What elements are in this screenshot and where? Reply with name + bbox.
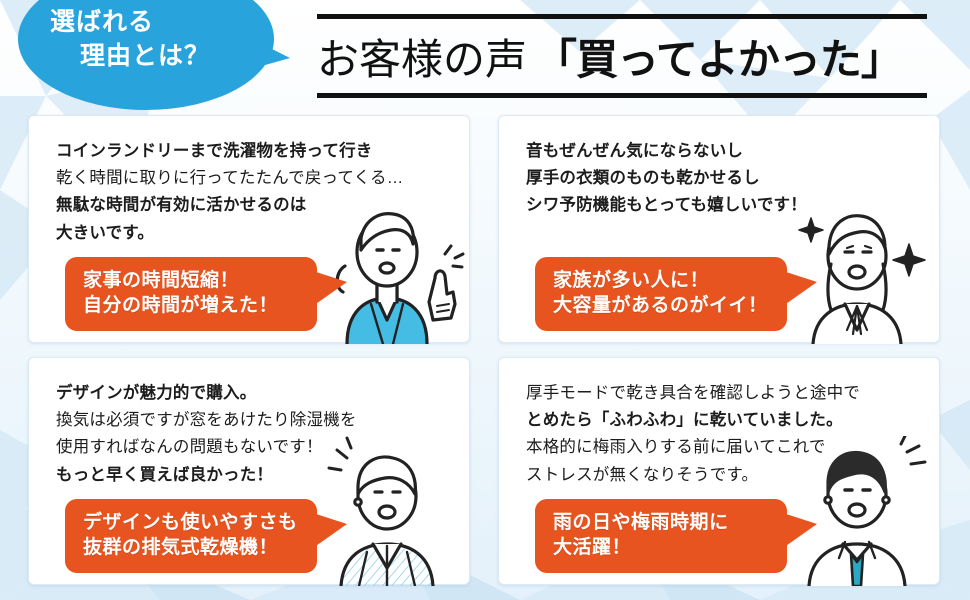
- callout-tail-icon: [783, 513, 817, 548]
- title-emphasis: 「買ってよかった」: [535, 26, 902, 87]
- callout-line: デザインも使いやすさも: [83, 510, 299, 535]
- testimonial-card-4: 厚手モードで乾き具合を確認しようと途中で とめたら「ふわふわ」に乾いていました。…: [498, 357, 940, 585]
- title-plain: お客様の声: [317, 26, 527, 87]
- callout-line: 雨の日や梅雨時期に: [553, 510, 769, 535]
- quote-line: 使用すればなんの問題もないです！: [56, 434, 456, 461]
- quote-line: コインランドリーまで洗濯物を持って行き: [56, 138, 456, 165]
- quote-line: 大きいです。: [56, 220, 456, 247]
- testimonial-card-1: コインランドリーまで洗濯物を持って行き 乾く時間に取りに行ってたたんで戻ってくる…: [28, 115, 470, 343]
- callout-tail-icon: [313, 513, 347, 548]
- quote-line: 乾く時間に取りに行ってたたんで戻ってくる…: [56, 165, 456, 192]
- callout-line: 大容量があるのがイイ！: [553, 293, 769, 318]
- quote-line: デザインが魅力的で購入。: [56, 380, 456, 407]
- callout-bubble-1: 家事の時間短縮！ 自分の時間が増えた！: [65, 257, 317, 331]
- callout-bubble-3: デザインも使いやすさも 抜群の排気式乾燥機！: [65, 499, 317, 573]
- title-rule-bottom: [317, 93, 927, 98]
- quote-line: もっと早く買えば良かった！: [56, 462, 456, 489]
- quote-line: 本格的に梅雨入りする前に届いてこれで: [526, 434, 926, 461]
- quote-line: シワ予防機能もとっても嬉しいです！: [526, 192, 926, 219]
- quote-line: ストレスが無くなりそうです。: [526, 462, 926, 489]
- testimonial-card-3: デザインが魅力的で購入。 換気は必須ですが窓をあけたり除湿機を 使用すればなんの…: [28, 357, 470, 585]
- quote-line: 換気は必須ですが窓をあけたり除湿機を: [56, 407, 456, 434]
- callout-tail-icon: [783, 271, 817, 306]
- quote-line: とめたら「ふわふわ」に乾いていました。: [526, 407, 926, 434]
- callout-line: 自分の時間が増えた！: [83, 293, 299, 318]
- callout-line: 家族が多い人に！: [553, 268, 769, 293]
- reason-bubble: 選ばれる 理由とは？: [18, 0, 290, 110]
- callout-line: 家事の時間短縮！: [83, 268, 299, 293]
- page-title: お客様の声 「買ってよかった」: [317, 14, 927, 98]
- quote-line: 厚手モードで乾き具合を確認しようと途中で: [526, 380, 926, 407]
- callout-tail-icon: [313, 271, 347, 306]
- callout-bubble-2: 家族が多い人に！ 大容量があるのがイイ！: [535, 257, 787, 331]
- reason-bubble-line-2: 理由とは？: [24, 39, 268, 74]
- header: 選ばれる 理由とは？ お客様の声 「買ってよかった」: [0, 0, 970, 108]
- testimonial-card-2: 音もぜんぜん気にならないし 厚手の衣類のものも乾かせるし シワ予防機能もとっても…: [498, 115, 940, 343]
- testimonial-grid: コインランドリーまで洗濯物を持って行き 乾く時間に取りに行ってたたんで戻ってくる…: [0, 110, 970, 580]
- testimonial-quote-3: デザインが魅力的で購入。 換気は必須ですが窓をあけたり除湿機を 使用すればなんの…: [56, 380, 456, 489]
- callout-bubble-4: 雨の日や梅雨時期に 大活躍！: [535, 499, 787, 573]
- quote-line: 無駄な時間が有効に活かせるのは: [56, 192, 456, 219]
- testimonial-quote-1: コインランドリーまで洗濯物を持って行き 乾く時間に取りに行ってたたんで戻ってくる…: [56, 138, 456, 247]
- callout-line: 大活躍！: [553, 535, 769, 560]
- testimonial-quote-4: 厚手モードで乾き具合を確認しようと途中で とめたら「ふわふわ」に乾いていました。…: [526, 380, 926, 489]
- testimonial-quote-2: 音もぜんぜん気にならないし 厚手の衣類のものも乾かせるし シワ予防機能もとっても…: [526, 138, 926, 220]
- callout-line: 抜群の排気式乾燥機！: [83, 535, 299, 560]
- quote-line: 厚手の衣類のものも乾かせるし: [526, 165, 926, 192]
- reason-bubble-line-1: 選ばれる: [24, 5, 268, 40]
- quote-line: 音もぜんぜん気にならないし: [526, 138, 926, 165]
